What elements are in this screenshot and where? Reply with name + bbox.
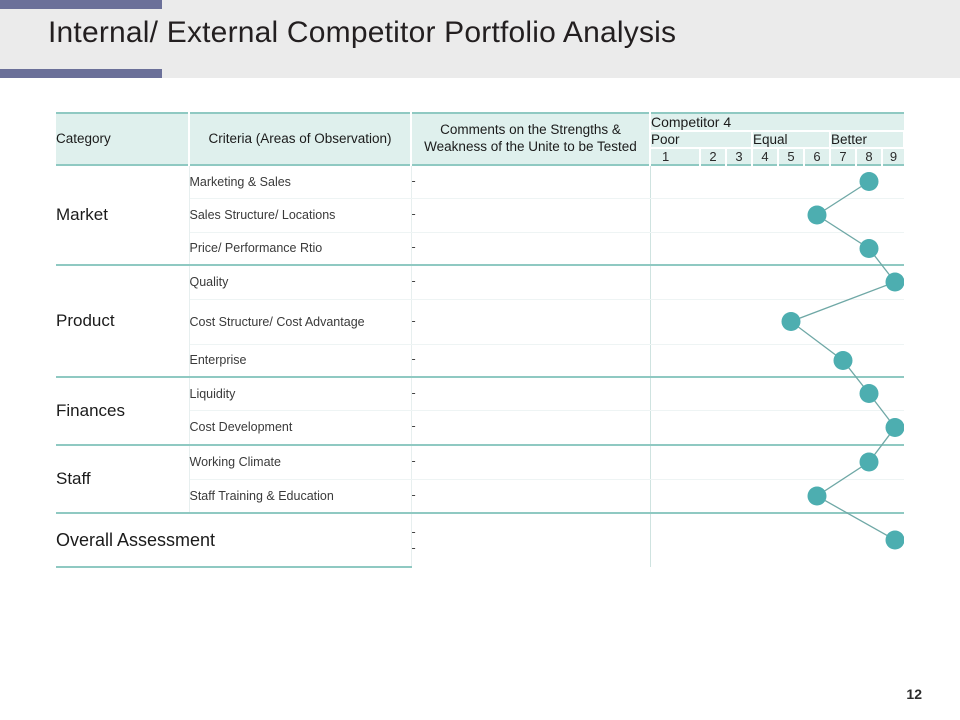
scale-number-4: 4 (752, 148, 778, 165)
criteria-label: Marketing & Sales (189, 165, 411, 198)
score-plot-cell (650, 232, 904, 265)
score-plot-cell (650, 513, 904, 567)
comment-cell: - (411, 479, 650, 513)
competitor-matrix-table: Category Criteria (Areas of Observation)… (56, 112, 904, 568)
comment-cell: -- (411, 513, 650, 567)
comment-cell: - (411, 232, 650, 265)
score-plot-cell (650, 344, 904, 377)
scale-label-poor: Poor (650, 131, 752, 148)
header-row-main: Category Criteria (Areas of Observation)… (56, 113, 904, 131)
score-plot-cell (650, 265, 904, 299)
criteria-label: Cost Structure/ Cost Advantage (189, 299, 411, 344)
category-label: Overall Assessment (56, 513, 411, 567)
category-label: Product (56, 265, 189, 377)
column-header-competitor: Competitor 4 (650, 113, 904, 131)
comment-cell: - (411, 377, 650, 410)
score-plot-cell (650, 479, 904, 513)
comment-cell: - (411, 198, 650, 232)
score-plot-cell (650, 198, 904, 232)
column-header-criteria: Criteria (Areas of Observation) (189, 113, 411, 165)
category-label: Finances (56, 377, 189, 445)
comment-cell: - (411, 165, 650, 198)
criteria-label: Enterprise (189, 344, 411, 377)
score-plot-cell (650, 445, 904, 479)
table-row: FinancesLiquidity- (56, 377, 904, 410)
matrix-header: Category Criteria (Areas of Observation)… (56, 113, 904, 165)
criteria-label: Price/ Performance Rtio (189, 232, 411, 265)
scale-number-6: 6 (804, 148, 830, 165)
header-accent-bar-top (0, 0, 162, 9)
score-plot-cell (650, 299, 904, 344)
table-row: ProductQuality- (56, 265, 904, 299)
matrix-body: MarketMarketing & Sales-Sales Structure/… (56, 165, 904, 567)
criteria-label: Working Climate (189, 445, 411, 479)
column-header-category: Category (56, 113, 189, 165)
table-row: StaffWorking Climate- (56, 445, 904, 479)
comment-cell: - (411, 265, 650, 299)
criteria-label: Liquidity (189, 377, 411, 410)
scale-number-5: 5 (778, 148, 804, 165)
scale-number-9: 9 (882, 148, 904, 165)
category-label: Market (56, 165, 189, 265)
competitor-matrix-container: Category Criteria (Areas of Observation)… (56, 112, 904, 664)
scale-number-3: 3 (726, 148, 752, 165)
comment-cell: - (411, 445, 650, 479)
scale-number-2: 2 (700, 148, 726, 165)
page-title: Internal/ External Competitor Portfolio … (48, 16, 676, 50)
header-accent-bar-bottom (0, 69, 162, 78)
header-bottom-strip (0, 78, 960, 85)
criteria-label: Staff Training & Education (189, 479, 411, 513)
scale-label-better: Better (830, 131, 904, 148)
comment-cell: - (411, 410, 650, 445)
scale-label-equal: Equal (752, 131, 830, 148)
criteria-label: Cost Development (189, 410, 411, 445)
column-header-comments: Comments on the Strengths & Weakness of … (411, 113, 650, 165)
criteria-label: Sales Structure/ Locations (189, 198, 411, 232)
page-number: 12 (906, 686, 922, 702)
scale-number-7: 7 (830, 148, 856, 165)
score-plot-cell (650, 410, 904, 445)
comment-cell: - (411, 344, 650, 377)
criteria-label: Quality (189, 265, 411, 299)
table-row: MarketMarketing & Sales- (56, 165, 904, 198)
category-label: Staff (56, 445, 189, 513)
score-plot-cell (650, 377, 904, 410)
scale-number-8: 8 (856, 148, 882, 165)
score-plot-cell (650, 165, 904, 198)
slide-header-band: Internal/ External Competitor Portfolio … (0, 0, 960, 85)
table-row: Overall Assessment-- (56, 513, 904, 567)
scale-number-1: 1 (650, 148, 700, 165)
comment-cell: - (411, 299, 650, 344)
